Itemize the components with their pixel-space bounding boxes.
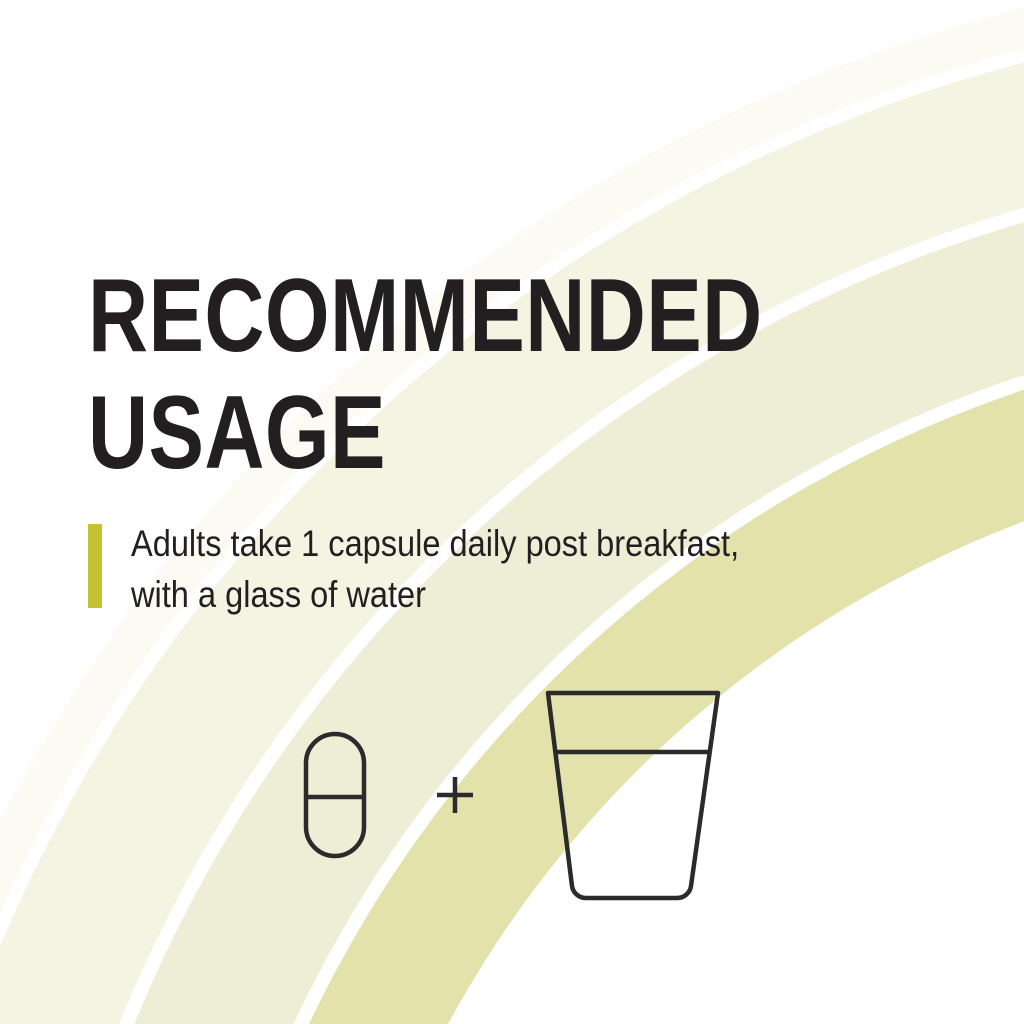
usage-instruction: Adults take 1 capsule daily post breakfa… [88,518,938,620]
usage-instruction-line-2: with a glass of water [131,569,739,620]
page-title: RECOMMENDED USAGE [88,258,848,492]
usage-icons [0,660,1024,940]
page-title-line-2: USAGE [88,375,696,492]
accent-bar [88,524,102,608]
glass-of-water-icon [548,693,718,898]
usage-instruction-text: Adults take 1 capsule daily post breakfa… [102,518,822,620]
recommended-usage-card: RECOMMENDED USAGE Adults take 1 capsule … [0,0,1024,1024]
icon-row [0,660,1024,940]
plus-icon [437,777,473,813]
page-title-line-1: RECOMMENDED [88,258,696,375]
capsule-icon [306,734,364,856]
usage-instruction-line-1: Adults take 1 capsule daily post breakfa… [131,518,739,569]
